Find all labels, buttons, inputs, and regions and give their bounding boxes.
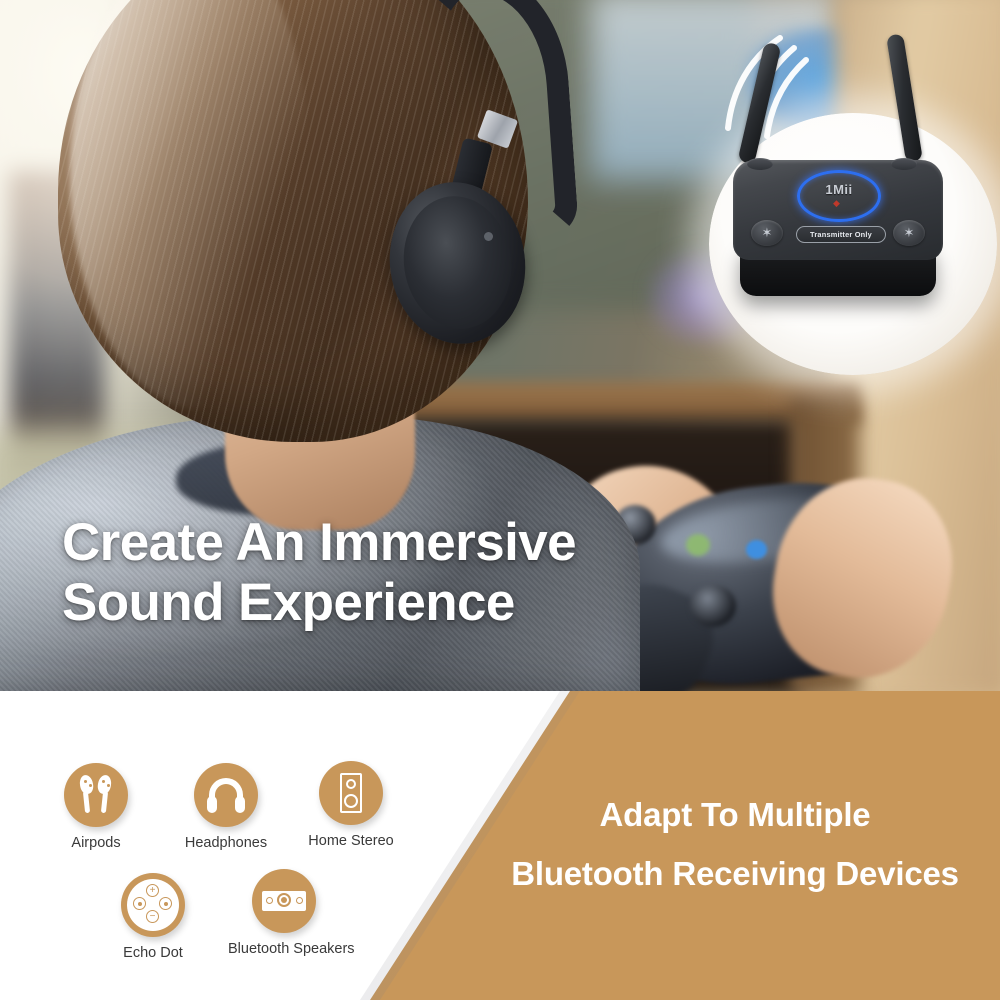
headline-line-1: Create An Immersive <box>62 513 576 572</box>
device-item-echo-dot[interactable]: + − Echo Dot <box>97 873 209 961</box>
antenna-hinge-right <box>891 158 917 170</box>
device-top-panel: 1Mii ◆ ✶ ✶ Transmitter Only <box>733 160 943 260</box>
echo-volume-down-button: − <box>146 910 159 923</box>
product-marketing-image: 1Mii ◆ ✶ ✶ Transmitter Only Create An Im… <box>0 0 1000 1000</box>
echo-mic-button <box>133 897 146 910</box>
compatible-devices-list: Airpods Headphones Home Stereo <box>0 691 560 1000</box>
headline-line-2: Sound Experience <box>62 573 702 633</box>
device-label: Echo Dot <box>97 945 209 961</box>
controller-button-blue <box>746 540 767 559</box>
device-item-bluetooth-speakers[interactable]: Bluetooth Speakers <box>228 869 340 957</box>
headphone-button <box>484 232 493 241</box>
airpods-icon <box>64 763 128 827</box>
bluetooth-button-left[interactable]: ✶ <box>751 220 783 246</box>
device-item-home-stereo[interactable]: Home Stereo <box>295 761 407 849</box>
echo-volume-up-button: + <box>146 884 159 897</box>
hero-headline: Create An Immersive Sound Experience <box>62 513 702 634</box>
mode-label-badge: Transmitter Only <box>796 226 886 243</box>
device-item-headphones[interactable]: Headphones <box>170 763 282 851</box>
echo-action-button <box>159 897 172 910</box>
device-label: Headphones <box>170 835 282 851</box>
home-stereo-icon <box>319 761 383 825</box>
device-label: Bluetooth Speakers <box>228 941 340 957</box>
hero-photo: 1Mii ◆ ✶ ✶ Transmitter Only Create An Im… <box>0 0 1000 691</box>
power-indicator-dot: ◆ <box>832 199 841 207</box>
brand-logo: 1Mii <box>811 182 867 197</box>
antenna-hinge-left <box>747 158 773 170</box>
device-item-airpods[interactable]: Airpods <box>40 763 152 851</box>
headphones-icon <box>194 763 258 827</box>
bluetooth-button-right[interactable]: ✶ <box>893 220 925 246</box>
device-label: Home Stereo <box>295 833 407 849</box>
echo-dot-icon: + − <box>121 873 185 937</box>
device-label: Airpods <box>40 835 152 851</box>
promo-line-1: Adapt To Multiple <box>600 796 871 833</box>
bluetooth-speaker-icon <box>252 869 316 933</box>
bluetooth-transmitter-device: 1Mii ◆ ✶ ✶ Transmitter Only <box>733 160 943 305</box>
